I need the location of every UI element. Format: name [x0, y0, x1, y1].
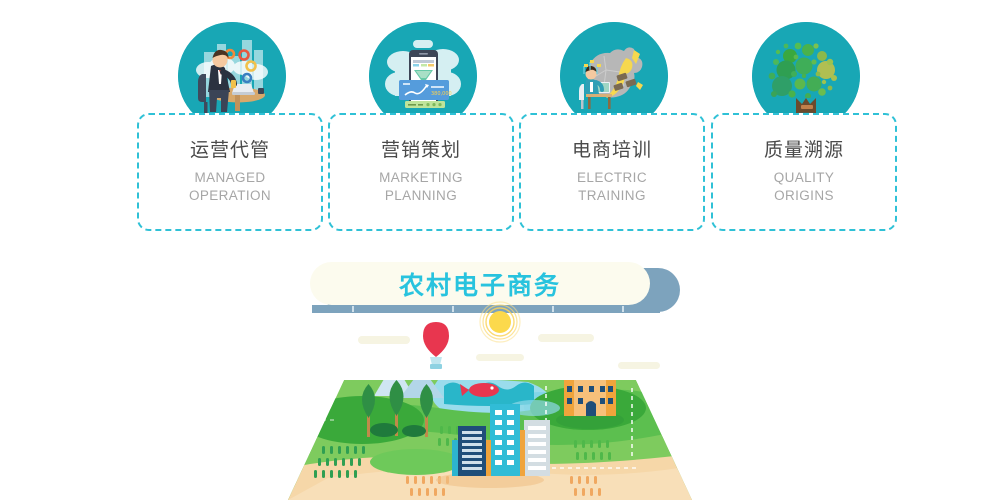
feature-subtitle-en: ELECTRIC TRAINING [577, 169, 647, 205]
rural-landscape-illustration: H [288, 300, 692, 500]
feature-title-zh: 电商培训 [572, 139, 652, 162]
feature-subtitle-line1: MANAGED [189, 169, 271, 187]
page-title: 农村电子商务 [399, 266, 561, 302]
hot-air-balloon-icon [423, 322, 449, 369]
feature-title-zh: 质量溯源 [764, 139, 844, 162]
feature-subtitle-line2: TRAINING [577, 187, 647, 205]
feature-subtitle-line2: ORIGINS [774, 187, 835, 205]
feature-row: 运营代管 MANAGED OPERATION [0, 0, 1000, 250]
feature-card-quality-origins[interactable]: 质量溯源 QUALITY ORIGINS [711, 113, 897, 231]
feature-subtitle-line1: MARKETING [379, 169, 463, 187]
feature-card-marketing-planning[interactable]: 营销策划 MARKETING PLANNING [328, 113, 514, 231]
feature-subtitle-line2: OPERATION [189, 187, 271, 205]
svg-text:380,000: 380,000 [431, 91, 452, 97]
feature-subtitle-line2: PLANNING [379, 187, 463, 205]
feature-managed-operation[interactable]: 运营代管 MANAGED OPERATION [137, 0, 327, 245]
feature-title-zh: 营销策划 [381, 139, 461, 162]
feature-electric-training[interactable]: 电商培训 ELECTRIC TRAINING [519, 0, 709, 245]
hotel-building: H [556, 344, 624, 429]
banner-face: 农村电子商务 [310, 262, 650, 305]
feature-card-electric-training[interactable]: 电商培训 ELECTRIC TRAINING [519, 113, 705, 231]
feature-subtitle-line1: QUALITY [774, 169, 835, 187]
feature-quality-origins[interactable]: 质量溯源 QUALITY ORIGINS [711, 0, 901, 245]
feature-subtitle-en: QUALITY ORIGINS [774, 169, 835, 205]
feature-subtitle-line1: ELECTRIC [577, 169, 647, 187]
feature-title-zh: 运营代管 [190, 139, 270, 162]
feature-marketing-planning[interactable]: 380,000 营销策划 MARKETING PLANNING [328, 0, 518, 245]
svg-text:H: H [587, 347, 593, 355]
feature-subtitle-en: MANAGED OPERATION [189, 169, 271, 205]
infographic-canvas: 运营代管 MANAGED OPERATION [0, 0, 1000, 500]
feature-subtitle-en: MARKETING PLANNING [379, 169, 463, 205]
sun-icon [480, 302, 520, 342]
feature-card-managed-operation[interactable]: 运营代管 MANAGED OPERATION [137, 113, 323, 231]
